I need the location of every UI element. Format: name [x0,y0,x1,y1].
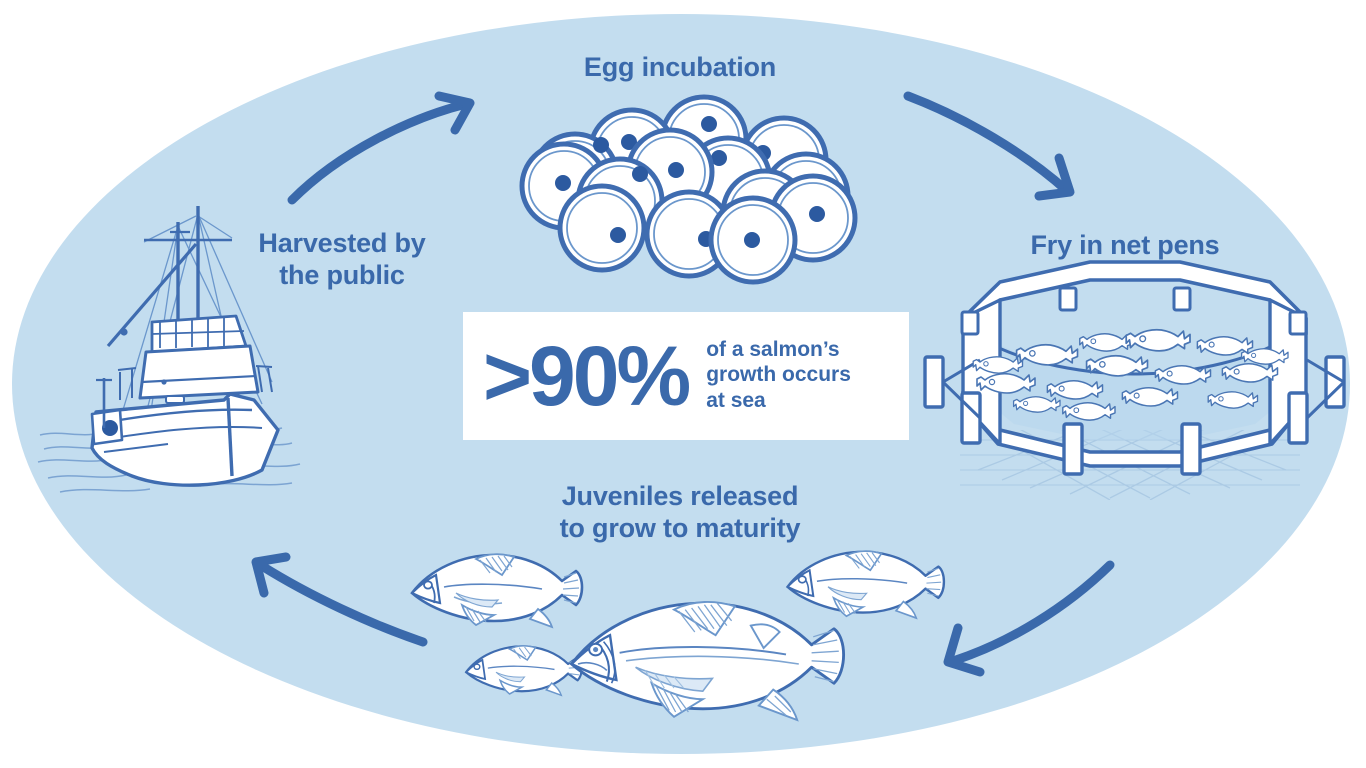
statistic-number: >90% [483,334,688,418]
stage-label-juveniles-released: Juveniles released to grow to maturity [495,481,865,545]
arrow-juveniles-to-harvest [256,557,423,642]
stage-label-harvested-by-the-public: Harvested by the public [228,228,456,292]
statistic-callout: >90% of a salmon’s growth occurs at sea [463,312,909,440]
infographic-canvas: Egg incubation Fry in net pens Juveniles… [0,0,1366,768]
arrow-fry-to-juveniles [948,565,1110,672]
stage-label-fry-in-net-pens: Fry in net pens [990,230,1260,262]
arrow-egg-to-fry [908,96,1070,196]
statistic-description: of a salmon’s growth occurs at sea [706,337,851,416]
stage-label-egg-incubation: Egg incubation [500,52,860,84]
arrow-harvest-to-egg [292,96,470,200]
